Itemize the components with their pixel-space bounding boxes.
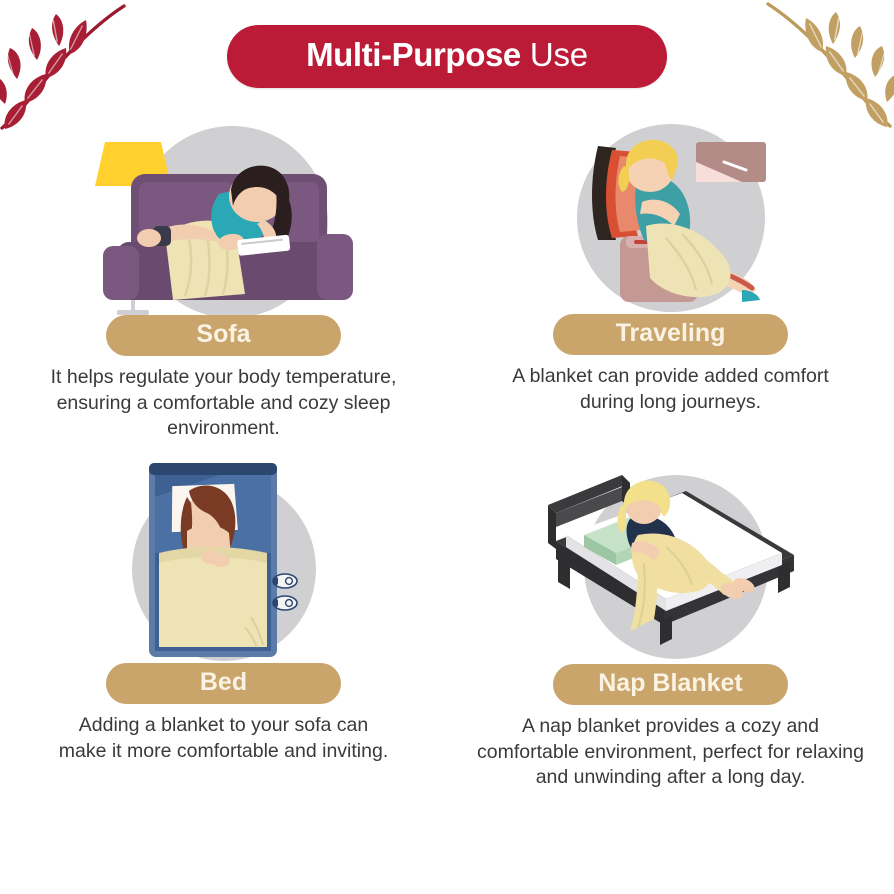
card-description-nap-blanket: A nap blanket provides a cozy and comfor… (471, 714, 871, 791)
title-pill: Multi-Purpose Use (227, 25, 667, 88)
title-light-text: Use (530, 36, 588, 73)
card-sofa: Sofa It helps regulate your body tempera… (0, 112, 447, 457)
card-description-traveling: A blanket can provide added comfort duri… (506, 364, 836, 415)
card-bed: Bed Adding a blanket to your sofa can ma… (0, 457, 447, 802)
card-label-bed: Bed (106, 663, 341, 704)
woman-on-sofa-illustration (69, 114, 379, 319)
infographic-page: Multi-Purpose Use (0, 0, 894, 894)
card-description-sofa: It helps regulate your body temperature,… (24, 365, 424, 442)
woman-reclining-travel-seat-illustration (546, 118, 796, 318)
card-nap-blanket: Nap Blanket A nap blanket provides a coz… (447, 457, 894, 802)
title-bold-text: Multi-Purpose (306, 36, 521, 73)
card-label-traveling: Traveling (553, 314, 788, 355)
cards-grid: Sofa It helps regulate your body tempera… (0, 112, 894, 802)
card-label-sofa: Sofa (106, 315, 341, 356)
title-banner: Multi-Purpose Use (0, 25, 894, 88)
person-napping-isometric-bed-illustration (526, 463, 816, 668)
card-description-bed: Adding a blanket to your sofa can make i… (59, 713, 389, 764)
card-label-nap-blanket: Nap Blanket (553, 664, 788, 705)
woman-sleeping-in-bed-topdown-illustration (99, 457, 349, 667)
card-traveling: Traveling A blanket can provide added co… (447, 112, 894, 457)
